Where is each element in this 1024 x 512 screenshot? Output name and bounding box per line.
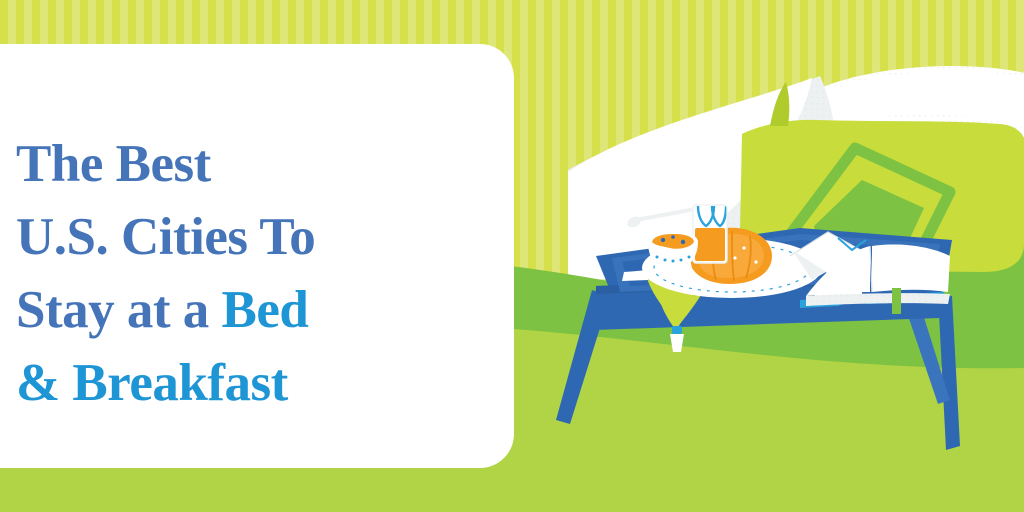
- headline-card: The Best U.S. Cities To Stay at a Bed & …: [0, 44, 514, 468]
- page-title: The Best U.S. Cities To Stay at a Bed & …: [16, 128, 456, 420]
- headline-line-4: & Breakfast: [16, 347, 456, 420]
- headline-line-3-accent: Bed: [222, 281, 309, 339]
- headline-line-3: Stay at a Bed: [16, 274, 456, 347]
- orange-juice-glass: [693, 205, 727, 263]
- headline-line-1: The Best: [16, 128, 456, 201]
- hero-banner: The Best U.S. Cities To Stay at a Bed & …: [0, 0, 1024, 512]
- napkin-ring: [672, 326, 682, 334]
- juice: [695, 228, 725, 261]
- tray-handle: [834, 303, 878, 317]
- headline-line-3-plain: Stay at a: [16, 281, 222, 339]
- bookmark-ribbon: [892, 288, 901, 314]
- headline-line-2: U.S. Cities To: [16, 201, 456, 274]
